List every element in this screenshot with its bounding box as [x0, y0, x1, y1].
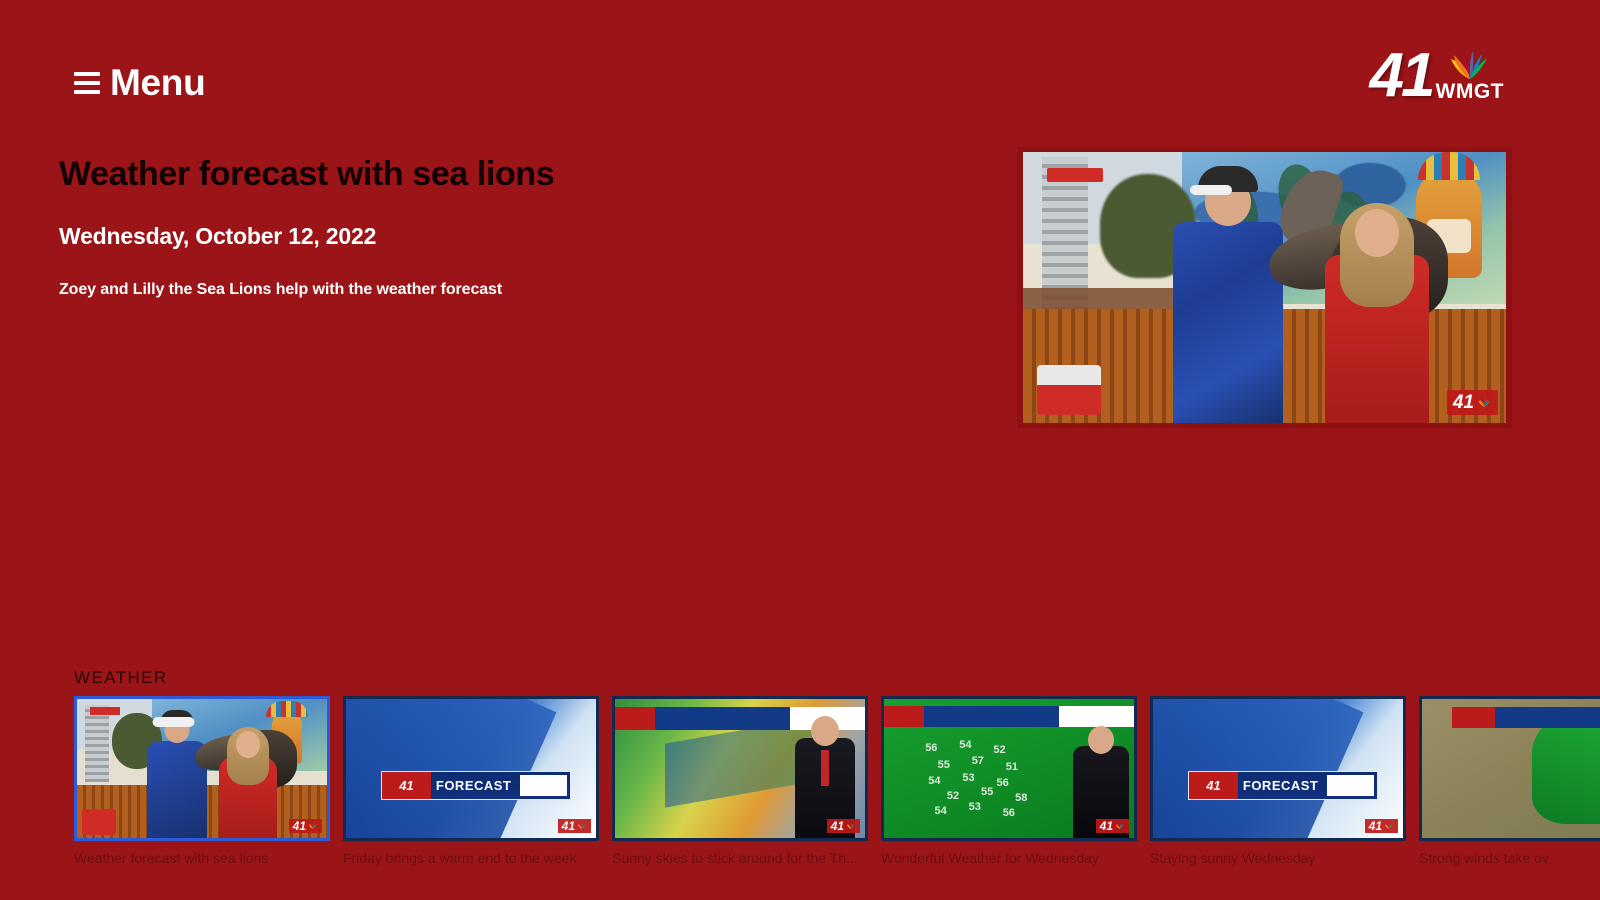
rail-card[interactable]: 41 Weather forecast with sea lions [74, 696, 330, 866]
video-frame: 41 [1023, 152, 1506, 423]
scene-cooler [1037, 365, 1101, 415]
rail-card[interactable]: 565452555751545356525558545356 41 Wonder… [881, 696, 1137, 866]
nbc-peacock-icon [1384, 822, 1394, 830]
rail-card-label: Staying sunny Wednesday [1150, 850, 1406, 866]
video-station-bug: 41 [1447, 390, 1498, 415]
rail-card[interactable]: 41 Strong winds take ov [1419, 696, 1600, 866]
nbc-peacock-icon [1446, 50, 1494, 80]
rail-card-thumbnail[interactable]: 565452555751545356525558545356 41 [881, 696, 1137, 841]
rail-card-thumbnail[interactable]: 41 FORECAST 41 [1150, 696, 1406, 841]
person-trainer [1173, 222, 1283, 423]
thumbnail-station-bug: 41 [827, 819, 860, 833]
menu-button-label: Menu [110, 64, 205, 101]
rail-card-thumbnail[interactable]: 41 FORECAST 41 [343, 696, 599, 841]
nbc-peacock-icon [846, 822, 856, 830]
thumbnail-bug-number: 41 [1100, 820, 1113, 832]
thumb-art-forecast: 41 FORECAST [346, 699, 596, 838]
rail-card-thumbnail[interactable]: 41 [612, 696, 868, 841]
rail-card[interactable]: 41 Sunny skies to stick around for the T… [612, 696, 868, 866]
app-header: Menu 41 WMGT [0, 0, 1600, 140]
nbc-peacock-icon [577, 822, 587, 830]
station-callsign: WMGT [1436, 81, 1504, 102]
rail-card[interactable]: 41 FORECAST 41 Friday brings a warm end … [343, 696, 599, 866]
nbc-peacock-icon [1115, 822, 1125, 830]
content-rail: WEATHER 41 Weather forecast with sea lio… [0, 668, 1600, 900]
thumb-art-radar-map [1422, 699, 1600, 838]
thumbnail-bug-number: 41 [562, 820, 575, 832]
page-title: Weather forecast with sea lions [59, 155, 819, 194]
rail-card[interactable]: 41 FORECAST 41 Staying sunny Wednesday [1150, 696, 1406, 866]
thumbnail-station-bug: 41 [1365, 819, 1398, 833]
nbc-peacock-icon [308, 822, 318, 830]
rail-category-title: WEATHER [74, 668, 168, 688]
rail-card-label: Friday brings a warm end to the week [343, 850, 599, 866]
video-bug-number: 41 [1453, 393, 1474, 412]
article-info: Weather forecast with sea lions Wednesda… [59, 155, 819, 299]
thumb-art-weather-map [615, 699, 865, 838]
thumb-art-temperature-map: 565452555751545356525558545356 [884, 699, 1134, 838]
station-logo: 41 WMGT [1370, 48, 1504, 104]
rail-card-label: Sunny skies to stick around for the Th..… [612, 850, 868, 866]
thumbnail-station-bug: 41 [558, 819, 591, 833]
thumb-art-forecast: 41 FORECAST [1153, 699, 1403, 838]
rail-card-thumbnail[interactable]: 41 [74, 696, 330, 841]
live-badge [1047, 168, 1103, 182]
person-reporter [1325, 255, 1429, 423]
menu-button[interactable]: Menu [74, 64, 205, 101]
thumbnail-bug-number: 41 [831, 820, 844, 832]
station-number: 41 [1370, 48, 1433, 104]
thumb-art-sea-lions [77, 699, 327, 838]
thumbnail-bug-number: 41 [293, 820, 306, 832]
rail-card-label: Wonderful Weather for Wednesday [881, 850, 1137, 866]
article-date: Wednesday, October 12, 2022 [59, 223, 819, 250]
article-description: Zoey and Lilly the Sea Lions help with t… [59, 281, 819, 299]
thumbnail-station-bug: 41 [1096, 819, 1129, 833]
thumbnail-bug-number: 41 [1369, 820, 1382, 832]
nbc-peacock-icon [1477, 397, 1492, 408]
rail-card-label: Strong winds take ov [1419, 850, 1600, 866]
video-player[interactable]: 41 [1017, 147, 1512, 428]
hamburger-icon [74, 72, 100, 94]
rail-thumbnail-row[interactable]: 41 Weather forecast with sea lions 41 FO… [74, 696, 1600, 866]
thumbnail-station-bug: 41 [289, 819, 322, 833]
rail-card-label: Weather forecast with sea lions [74, 850, 330, 866]
rail-card-thumbnail[interactable]: 41 [1419, 696, 1600, 841]
